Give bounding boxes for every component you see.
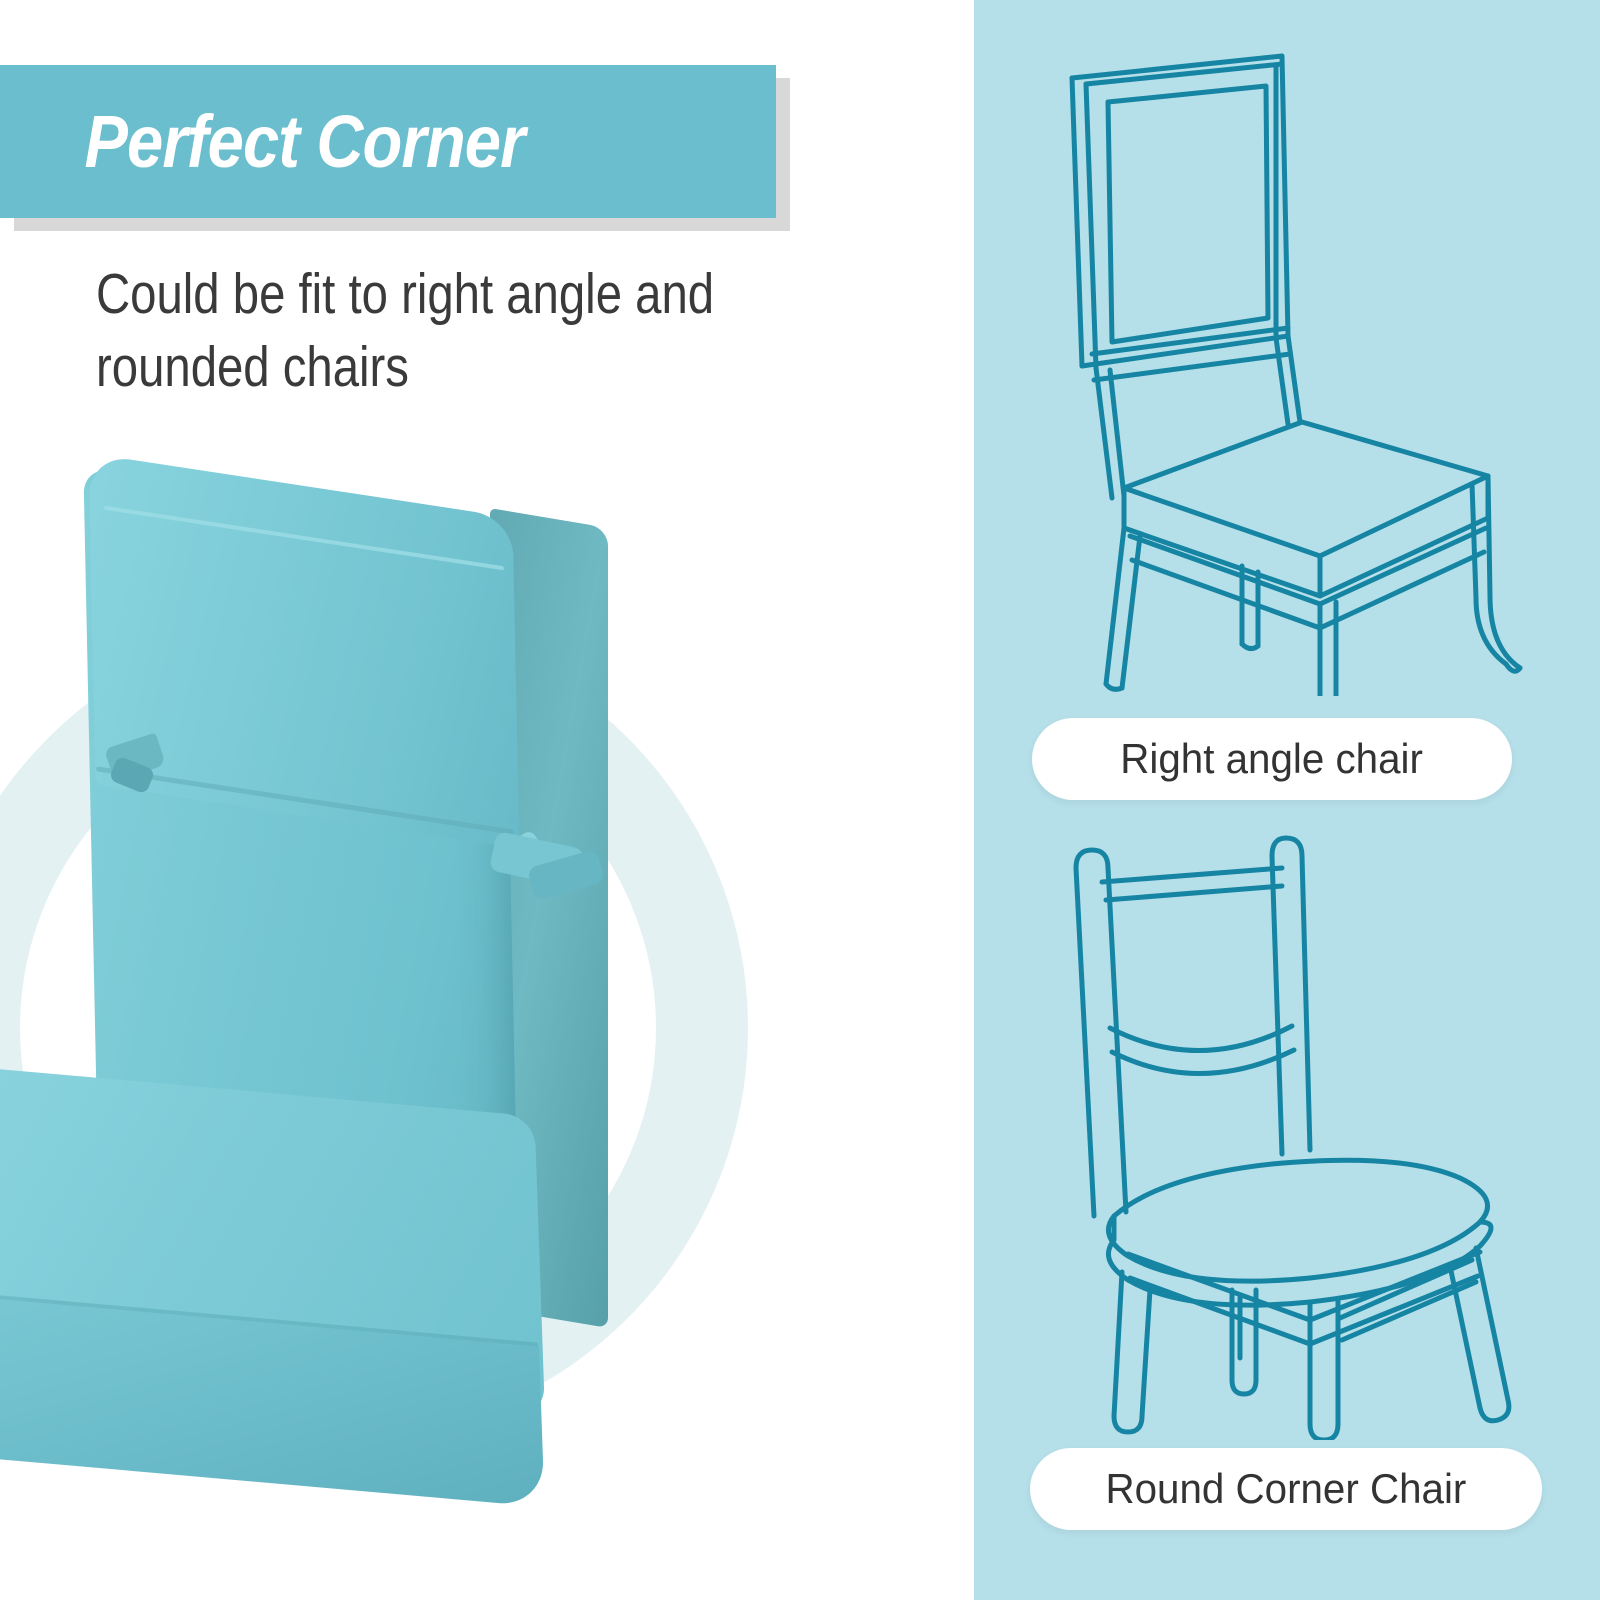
- page-title: Perfect Corner: [0, 99, 525, 184]
- chair-types-panel: Right angle chair: [974, 0, 1600, 1600]
- label-round-corner-chair: Round Corner Chair: [1030, 1448, 1542, 1530]
- cushion-product-image: [0, 440, 700, 1560]
- label-right-angle-chair-text: Right angle chair: [1121, 735, 1424, 783]
- left-content-panel: Perfect Corner Could be fit to right ang…: [0, 0, 974, 1600]
- label-round-corner-chair-text: Round Corner Chair: [1106, 1465, 1467, 1513]
- label-right-angle-chair: Right angle chair: [1032, 718, 1512, 800]
- right-angle-chair-icon: [1020, 36, 1540, 696]
- product-infographic: Perfect Corner Could be fit to right ang…: [0, 0, 1600, 1600]
- round-corner-chair-icon: [1010, 820, 1550, 1440]
- subtitle-text: Could be fit to right angle and rounded …: [96, 258, 802, 404]
- title-banner: Perfect Corner: [0, 65, 776, 218]
